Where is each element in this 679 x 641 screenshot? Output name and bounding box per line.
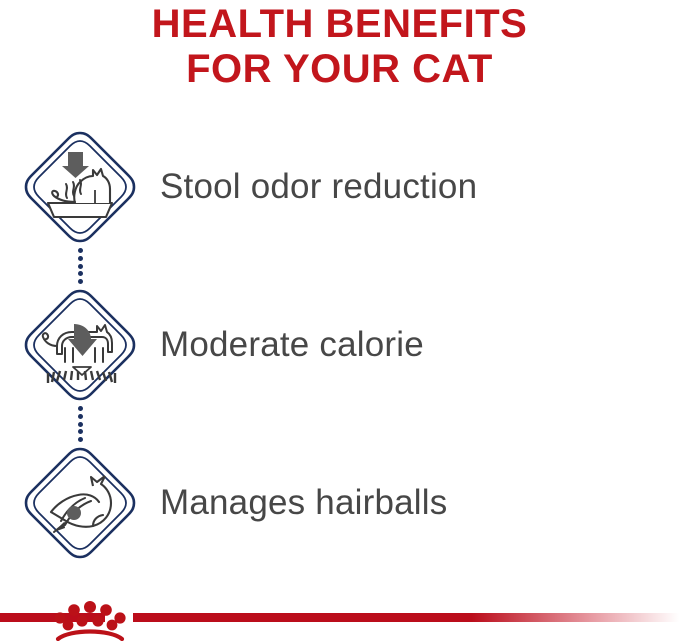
benefit-item-stool-odor: Stool odor reduction xyxy=(0,128,679,246)
benefit-icon-slot xyxy=(0,286,160,404)
connector-dot xyxy=(78,422,83,427)
connector-dot xyxy=(78,406,83,411)
benefit-item-moderate-calorie: Moderate calorie xyxy=(0,286,679,404)
footer-rule-right xyxy=(133,613,679,622)
page-title: HEALTH BENEFITS FOR YOUR CAT xyxy=(0,2,679,92)
benefit-icon-slot xyxy=(0,444,160,562)
footer xyxy=(0,579,679,641)
cat-litter-box-down-arrow-icon xyxy=(21,128,139,246)
cat-hairball-arrow-icon xyxy=(21,444,139,562)
cat-on-weight-scale-down-arrow-icon xyxy=(21,286,139,404)
connector-dot xyxy=(78,248,83,253)
connector-dot xyxy=(78,279,83,284)
title-line-1: HEALTH BENEFITS xyxy=(0,2,679,47)
benefit-item-manages-hairballs: Manages hairballs xyxy=(0,444,679,562)
connector-dot xyxy=(78,429,83,434)
connector-dot xyxy=(78,256,83,261)
title-line-2: FOR YOUR CAT xyxy=(0,47,679,92)
health-benefits-infographic: { "title": { "line1": "HEALTH BENEFITS",… xyxy=(0,0,679,641)
connector-dot xyxy=(78,264,83,269)
connector-1 xyxy=(0,246,679,286)
benefit-icon-slot xyxy=(0,128,160,246)
connector-dots xyxy=(0,404,160,444)
benefit-label: Manages hairballs xyxy=(160,483,447,523)
connector-dots xyxy=(0,246,160,286)
connector-dot xyxy=(78,437,83,442)
benefits-list: Stool odor reduction xyxy=(0,128,679,562)
benefit-label: Moderate calorie xyxy=(160,325,424,365)
connector-2 xyxy=(0,404,679,444)
benefit-label: Stool odor reduction xyxy=(160,167,477,207)
connector-dot xyxy=(78,271,83,276)
connector-dot xyxy=(78,414,83,419)
royal-canin-crown-logo xyxy=(52,597,128,641)
